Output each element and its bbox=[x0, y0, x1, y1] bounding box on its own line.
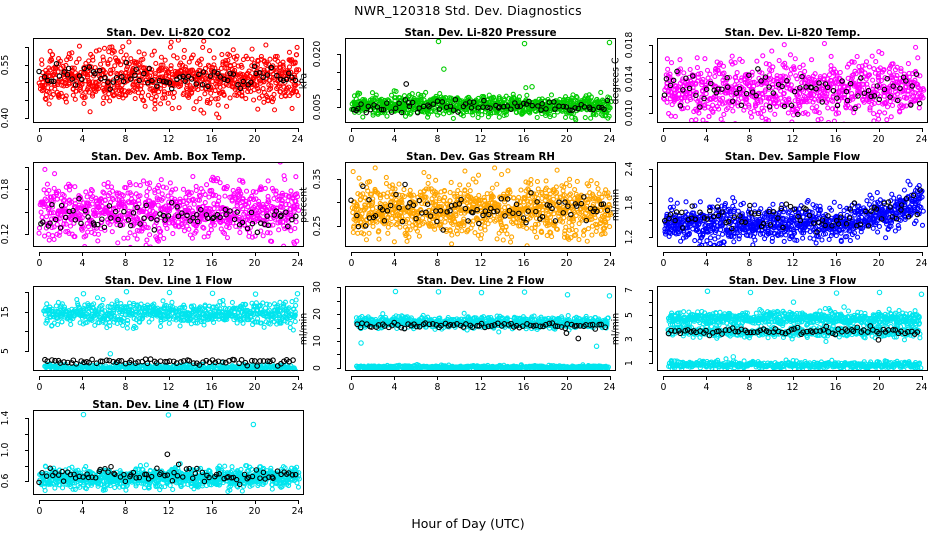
yminor-tick-p2-0 bbox=[337, 89, 341, 90]
figure-xaxis-label: Hour of Day (UTC) bbox=[0, 516, 936, 531]
xtick-p7-2 bbox=[125, 376, 126, 380]
yminor-tick-p3-1 bbox=[649, 62, 653, 63]
yminor-tick-p1-0 bbox=[25, 100, 29, 101]
xtick-label-p3-0: 0 bbox=[651, 134, 675, 145]
xtick-p8-2 bbox=[437, 376, 438, 380]
yaxis-label-p2: kPa bbox=[298, 28, 310, 133]
xtick-label-p4-6: 24 bbox=[286, 258, 310, 269]
xtick-label-p9-1: 4 bbox=[694, 382, 718, 393]
xtick-p4-0 bbox=[39, 252, 40, 256]
xtick-p10-6 bbox=[298, 500, 299, 504]
xtick-p2-4 bbox=[524, 128, 525, 132]
yminor-tick-p10-1 bbox=[25, 434, 29, 435]
xtick-label-p3-3: 12 bbox=[781, 134, 805, 145]
xtick-p1-5 bbox=[255, 128, 256, 132]
xtick-label-p8-5: 20 bbox=[555, 382, 579, 393]
xtick-p5-3 bbox=[481, 252, 482, 256]
xtick-p8-5 bbox=[567, 376, 568, 380]
ytick-p10-1 bbox=[25, 450, 29, 451]
xtick-p1-3 bbox=[169, 128, 170, 132]
panel-p5: Stan. Dev. Gas Stream RH048121620240.250… bbox=[312, 152, 624, 277]
yminor-tick-p6-1 bbox=[649, 186, 653, 187]
xtick-label-p4-1: 4 bbox=[70, 258, 94, 269]
panel-p4: Stan. Dev. Amb. Box Temp.048121620240.12… bbox=[0, 152, 312, 277]
xtick-p10-1 bbox=[82, 500, 83, 504]
ytick-p4-0 bbox=[25, 234, 29, 235]
ytick-label-p4-1: 0.18 bbox=[0, 172, 12, 206]
xtick-label-p9-6: 24 bbox=[910, 382, 934, 393]
xtick-label-p7-4: 16 bbox=[200, 382, 224, 393]
yminor-tick-p9-2 bbox=[649, 302, 653, 303]
ytick-p1-1 bbox=[25, 65, 29, 66]
ytick-p3-0 bbox=[649, 113, 653, 114]
ytick-label-p10-1: 1.0 bbox=[0, 433, 12, 467]
yminor-tick-p8-2 bbox=[337, 301, 341, 302]
xtick-p9-0 bbox=[663, 376, 664, 380]
xtick-p6-0 bbox=[663, 252, 664, 256]
ytick-label-p4-0: 0.12 bbox=[0, 217, 12, 251]
xtick-label-p1-4: 16 bbox=[200, 134, 224, 145]
xtick-p9-2 bbox=[749, 376, 750, 380]
yminor-tick-p1-1 bbox=[25, 82, 29, 83]
page-title: NWR_120318 Std. Dev. Diagnostics bbox=[0, 3, 936, 18]
xtick-label-p6-0: 0 bbox=[651, 258, 675, 269]
xtick-label-p8-0: 0 bbox=[339, 382, 363, 393]
diagnostics-figure: NWR_120318 Std. Dev. Diagnostics Stan. D… bbox=[0, 0, 936, 540]
xtick-label-p3-4: 16 bbox=[824, 134, 848, 145]
panel-p2: Stan. Dev. Li-820 Pressure048121620240.0… bbox=[312, 28, 624, 153]
ytick-p2-1 bbox=[337, 54, 341, 55]
xtick-p5-1 bbox=[394, 252, 395, 256]
ytick-label-p10-2: 1.4 bbox=[0, 401, 12, 435]
xtick-label-p8-1: 4 bbox=[382, 382, 406, 393]
ytick-label-p2-0: 0.005 bbox=[312, 90, 324, 124]
xtick-label-p8-4: 16 bbox=[512, 382, 536, 393]
xtick-label-p6-3: 12 bbox=[781, 258, 805, 269]
xtick-p6-5 bbox=[879, 252, 880, 256]
xtick-label-p4-4: 16 bbox=[200, 258, 224, 269]
xtick-label-p5-4: 16 bbox=[512, 258, 536, 269]
xtick-label-p8-2: 8 bbox=[425, 382, 449, 393]
xtick-label-p1-1: 4 bbox=[70, 134, 94, 145]
yminor-tick-p6-0 bbox=[649, 220, 653, 221]
ytick-label-p3-2: 0.018 bbox=[624, 28, 636, 62]
panel-p6: Stan. Dev. Sample Flow048121620241.21.82… bbox=[624, 152, 936, 277]
ytick-label-p10-0: 0.6 bbox=[0, 464, 12, 498]
yminor-tick-p8-1 bbox=[337, 328, 341, 329]
xtick-p4-3 bbox=[169, 252, 170, 256]
xtick-label-p5-1: 4 bbox=[382, 258, 406, 269]
ytick-label-p6-2: 2.4 bbox=[624, 152, 636, 186]
xtick-p6-3 bbox=[793, 252, 794, 256]
ytick-p6-1 bbox=[649, 203, 653, 204]
xtick-label-p3-2: 8 bbox=[737, 134, 761, 145]
plot-area-p4 bbox=[33, 162, 304, 247]
xtick-p2-2 bbox=[437, 128, 438, 132]
xtick-p3-4 bbox=[836, 128, 837, 132]
xtick-label-p9-4: 16 bbox=[824, 382, 848, 393]
xtick-p8-0 bbox=[351, 376, 352, 380]
xtick-label-p1-3: 12 bbox=[157, 134, 181, 145]
xtick-p9-3 bbox=[793, 376, 794, 380]
xtick-label-p2-5: 20 bbox=[555, 134, 579, 145]
yminor-tick-p7-1 bbox=[25, 292, 29, 293]
ytick-p3-1 bbox=[649, 79, 653, 80]
ytick-p8-0 bbox=[337, 368, 341, 369]
xtick-label-p5-0: 0 bbox=[339, 258, 363, 269]
ytick-p9-3 bbox=[649, 290, 653, 291]
xtick-label-p9-5: 20 bbox=[867, 382, 891, 393]
xtick-label-p6-6: 24 bbox=[910, 258, 934, 269]
xtick-label-p7-6: 24 bbox=[286, 382, 310, 393]
xtick-label-p1-2: 8 bbox=[113, 134, 137, 145]
data-points-p4 bbox=[34, 163, 304, 247]
ytick-p10-0 bbox=[25, 481, 29, 482]
xtick-p5-0 bbox=[351, 252, 352, 256]
xtick-p6-2 bbox=[749, 252, 750, 256]
data-points-p1 bbox=[34, 39, 304, 123]
xtick-label-p9-0: 0 bbox=[651, 382, 675, 393]
plot-area-p6 bbox=[657, 162, 928, 247]
yaxis-label-p5: percent bbox=[298, 152, 310, 257]
ytick-label-p5-1: 0.35 bbox=[312, 162, 324, 196]
panel-p9: Stan. Dev. Line 3 Flow048121620241357ml/… bbox=[624, 276, 936, 401]
xtick-label-p6-1: 4 bbox=[694, 258, 718, 269]
xtick-label-p7-3: 12 bbox=[157, 382, 181, 393]
xtick-p10-4 bbox=[212, 500, 213, 504]
ytick-p5-0 bbox=[337, 226, 341, 227]
yminor-tick-p9-0 bbox=[649, 351, 653, 352]
xtick-label-p3-6: 24 bbox=[910, 134, 934, 145]
ytick-p6-0 bbox=[649, 237, 653, 238]
panel-p3: Stan. Dev. Li-820 Temp.048121620240.0100… bbox=[624, 28, 936, 153]
data-points-p3 bbox=[658, 39, 928, 123]
ytick-p8-1 bbox=[337, 341, 341, 342]
xtick-p7-1 bbox=[82, 376, 83, 380]
xtick-label-p3-1: 4 bbox=[694, 134, 718, 145]
xtick-label-p2-0: 0 bbox=[339, 134, 363, 145]
xtick-p1-2 bbox=[125, 128, 126, 132]
yminor-tick-p1-2 bbox=[25, 47, 29, 48]
xtick-label-p7-0: 0 bbox=[27, 382, 51, 393]
yminor-tick-p10-0 bbox=[25, 466, 29, 467]
xtick-p2-5 bbox=[567, 128, 568, 132]
xtick-p6-6 bbox=[922, 252, 923, 256]
xtick-label-p5-5: 20 bbox=[555, 258, 579, 269]
xtick-label-p4-3: 12 bbox=[157, 258, 181, 269]
data-points-p6 bbox=[658, 163, 928, 247]
plot-area-p5 bbox=[345, 162, 616, 247]
data-points-p10 bbox=[34, 411, 304, 495]
xtick-p3-6 bbox=[922, 128, 923, 132]
xtick-label-p8-3: 12 bbox=[469, 382, 493, 393]
ytick-label-p1-1: 0.55 bbox=[0, 48, 12, 82]
xtick-label-p4-5: 20 bbox=[243, 258, 267, 269]
xtick-p4-2 bbox=[125, 252, 126, 256]
ytick-label-p6-0: 1.2 bbox=[624, 220, 636, 254]
xtick-label-p4-0: 0 bbox=[27, 258, 51, 269]
yaxis-line-p2 bbox=[340, 54, 341, 107]
xtick-p8-3 bbox=[481, 376, 482, 380]
xtick-label-p2-2: 8 bbox=[425, 134, 449, 145]
ytick-p10-2 bbox=[25, 418, 29, 419]
xtick-p10-2 bbox=[125, 500, 126, 504]
xtick-label-p9-3: 12 bbox=[781, 382, 805, 393]
yaxis-line-p4 bbox=[28, 167, 29, 235]
xtick-label-p5-3: 12 bbox=[469, 258, 493, 269]
ytick-p4-1 bbox=[25, 189, 29, 190]
data-points-p9 bbox=[658, 287, 928, 371]
xtick-p6-1 bbox=[706, 252, 707, 256]
xtick-p4-4 bbox=[212, 252, 213, 256]
xtick-label-p2-4: 16 bbox=[512, 134, 536, 145]
xtick-label-p1-6: 24 bbox=[286, 134, 310, 145]
data-points-p2 bbox=[346, 39, 616, 123]
ytick-p8-3 bbox=[337, 287, 341, 288]
ytick-p2-0 bbox=[337, 107, 341, 108]
panel-p8: Stan. Dev. Line 2 Flow048121620240102030… bbox=[312, 276, 624, 401]
yaxis-label-p9: ml/min bbox=[610, 276, 622, 381]
xtick-p10-3 bbox=[169, 500, 170, 504]
yminor-tick-p2-1 bbox=[337, 72, 341, 73]
ytick-label-p8-3: 30 bbox=[312, 270, 324, 304]
data-points-p8 bbox=[346, 287, 616, 371]
xtick-p10-5 bbox=[255, 500, 256, 504]
xtick-p1-1 bbox=[82, 128, 83, 132]
plot-area-p10 bbox=[33, 410, 304, 495]
xtick-label-p2-6: 24 bbox=[598, 134, 622, 145]
xtick-label-p6-5: 20 bbox=[867, 258, 891, 269]
yminor-tick-p4-0 bbox=[25, 212, 29, 213]
xtick-p1-0 bbox=[39, 128, 40, 132]
xtick-p3-5 bbox=[879, 128, 880, 132]
plot-area-p3 bbox=[657, 38, 928, 123]
xtick-p3-3 bbox=[793, 128, 794, 132]
xtick-label-p5-2: 8 bbox=[425, 258, 449, 269]
xtick-label-p8-6: 24 bbox=[598, 382, 622, 393]
yaxis-label-p8: ml/min bbox=[298, 276, 310, 381]
ytick-p7-1 bbox=[25, 312, 29, 313]
xtick-label-p6-4: 16 bbox=[824, 258, 848, 269]
ytick-p6-2 bbox=[649, 169, 653, 170]
xtick-label-p7-1: 4 bbox=[70, 382, 94, 393]
plot-area-p9 bbox=[657, 286, 928, 371]
yaxis-label-p6: ml/min bbox=[610, 152, 622, 257]
ytick-label-p3-1: 0.014 bbox=[624, 62, 636, 96]
xtick-p10-0 bbox=[39, 500, 40, 504]
xtick-label-p3-5: 20 bbox=[867, 134, 891, 145]
ytick-p3-2 bbox=[649, 45, 653, 46]
xtick-p3-0 bbox=[663, 128, 664, 132]
yminor-tick-p4-1 bbox=[25, 167, 29, 168]
xtick-p2-3 bbox=[481, 128, 482, 132]
xtick-label-p5-6: 24 bbox=[598, 258, 622, 269]
ytick-label-p6-1: 1.8 bbox=[624, 186, 636, 220]
xtick-p5-5 bbox=[567, 252, 568, 256]
ytick-p9-2 bbox=[649, 315, 653, 316]
xtick-p5-2 bbox=[437, 252, 438, 256]
yminor-tick-p9-1 bbox=[649, 327, 653, 328]
ytick-p9-1 bbox=[649, 339, 653, 340]
xtick-p5-4 bbox=[524, 252, 525, 256]
data-points-p7 bbox=[34, 287, 304, 371]
ytick-label-p2-1: 0.020 bbox=[312, 37, 324, 71]
ytick-p9-0 bbox=[649, 363, 653, 364]
ytick-label-p7-0: 5 bbox=[0, 334, 12, 368]
ytick-label-p9-3: 7 bbox=[624, 273, 636, 307]
xtick-p4-5 bbox=[255, 252, 256, 256]
xtick-p2-0 bbox=[351, 128, 352, 132]
xtick-p4-1 bbox=[82, 252, 83, 256]
xtick-label-p1-5: 20 bbox=[243, 134, 267, 145]
xtick-p2-1 bbox=[394, 128, 395, 132]
plot-area-p7 bbox=[33, 286, 304, 371]
xtick-p3-1 bbox=[706, 128, 707, 132]
xtick-p9-4 bbox=[836, 376, 837, 380]
xtick-p7-5 bbox=[255, 376, 256, 380]
plot-area-p1 bbox=[33, 38, 304, 123]
xtick-p9-5 bbox=[879, 376, 880, 380]
xtick-p9-1 bbox=[706, 376, 707, 380]
xtick-label-p6-2: 8 bbox=[737, 258, 761, 269]
data-points-p5 bbox=[346, 163, 616, 247]
plot-area-p2 bbox=[345, 38, 616, 123]
xtick-p8-1 bbox=[394, 376, 395, 380]
xtick-p3-2 bbox=[749, 128, 750, 132]
plot-area-p8 bbox=[345, 286, 616, 371]
yaxis-label-p3: degrees C bbox=[610, 28, 622, 133]
xtick-p7-4 bbox=[212, 376, 213, 380]
xtick-p1-4 bbox=[212, 128, 213, 132]
ytick-p5-1 bbox=[337, 179, 341, 180]
xtick-label-p9-2: 8 bbox=[737, 382, 761, 393]
xtick-label-p2-1: 4 bbox=[382, 134, 406, 145]
panel-p7: Stan. Dev. Line 1 Flow04812162024515ml/m… bbox=[0, 276, 312, 401]
ytick-p1-0 bbox=[25, 118, 29, 119]
panel-p10: Stan. Dev. Line 4 (LT) Flow048121620240.… bbox=[0, 400, 312, 525]
ytick-label-p3-0: 0.010 bbox=[624, 96, 636, 130]
yminor-tick-p5-0 bbox=[337, 202, 341, 203]
xtick-label-p2-3: 12 bbox=[469, 134, 493, 145]
xtick-p7-3 bbox=[169, 376, 170, 380]
xtick-label-p4-2: 8 bbox=[113, 258, 137, 269]
xtick-label-p1-0: 0 bbox=[27, 134, 51, 145]
yminor-tick-p8-0 bbox=[337, 354, 341, 355]
xtick-label-p7-2: 8 bbox=[113, 382, 137, 393]
xtick-p7-0 bbox=[39, 376, 40, 380]
ytick-p8-2 bbox=[337, 314, 341, 315]
yaxis-line-p7 bbox=[28, 292, 29, 351]
ytick-label-p7-1: 15 bbox=[0, 295, 12, 329]
xtick-p8-4 bbox=[524, 376, 525, 380]
panel-p1: Stan. Dev. Li-820 CO2048121620240.400.55… bbox=[0, 28, 312, 153]
xtick-label-p7-5: 20 bbox=[243, 382, 267, 393]
ytick-p7-0 bbox=[25, 351, 29, 352]
yminor-tick-p3-0 bbox=[649, 96, 653, 97]
ytick-label-p1-0: 0.40 bbox=[0, 101, 12, 135]
xtick-p6-4 bbox=[836, 252, 837, 256]
ytick-label-p5-0: 0.25 bbox=[312, 209, 324, 243]
xtick-p9-6 bbox=[922, 376, 923, 380]
yminor-tick-p7-0 bbox=[25, 331, 29, 332]
